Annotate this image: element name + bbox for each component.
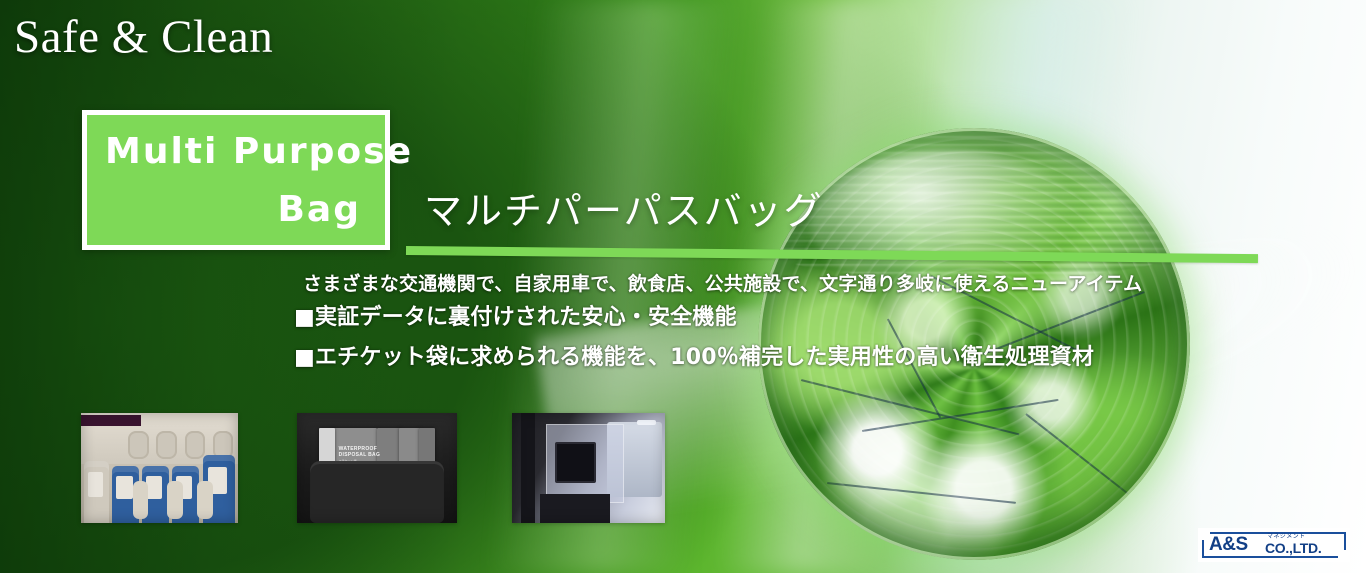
copy-bullet-1: ■実証データに裏付けされた安心・安全機能 [294, 298, 1303, 338]
page-title: Safe & Clean [14, 10, 273, 65]
product-name-callout: Multi Purpose Bag [82, 110, 390, 250]
car-interior-photo [512, 413, 665, 523]
logo-kana: マネジメント [1267, 533, 1305, 540]
disposal-bags-seat-pocket-photo: WATERPROOF DISPOSAL BAG エチケット袋 [297, 413, 457, 523]
callout-line-1: Multi Purpose [97, 123, 371, 181]
logo-notch-right [1338, 550, 1348, 560]
copy-lead: さまざまな交通機関で、自家用車で、飲食店、公共施設で、文字通り多岐に使えるニュー… [303, 270, 1303, 298]
body-copy: さまざまな交通機関で、自家用車で、飲食店、公共施設で、文字通り多岐に使えるニュー… [303, 270, 1303, 378]
logo-suffix: CO.,LTD. [1265, 540, 1321, 556]
company-logo: A&S マネジメント CO.,LTD. [1198, 528, 1350, 562]
copy-bullet-2: ■エチケット袋に求められる機能を、100％補完した実用性の高い衛生処理資材 [294, 338, 1303, 378]
callout-line-2: Bag [97, 181, 371, 239]
product-subtitle-jp: マルチパーパスバッグ [424, 189, 824, 233]
train-interior-photo [81, 413, 238, 523]
logo-brand: A&S [1209, 534, 1248, 555]
promo-banner: Safe & Clean Multi Purpose Bag マルチパーパスバッ… [0, 0, 1366, 573]
